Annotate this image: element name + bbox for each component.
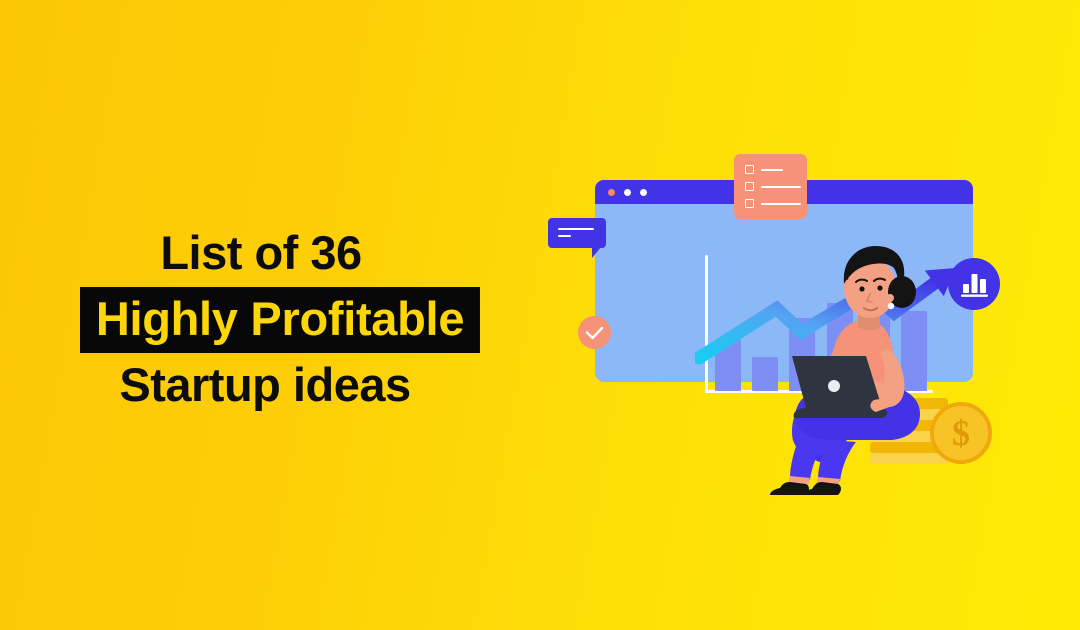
checklist-line	[761, 186, 801, 188]
headline-line-3: Startup ideas	[0, 354, 560, 416]
check-circle-badge	[578, 316, 611, 349]
headline-block: List of 36 Highly Profitable Startup ide…	[0, 222, 560, 416]
woman-with-laptop	[770, 236, 960, 496]
speech-bubble-line	[558, 228, 594, 230]
traffic-light-dot-red-icon	[608, 189, 615, 196]
headline-line-1: List of 36	[0, 222, 560, 284]
traffic-light-dot-white-1-icon	[624, 189, 631, 196]
checklist-line	[761, 169, 783, 171]
headline-highlight-wrap: Highly Profitable	[0, 287, 560, 353]
speech-bubble	[548, 218, 606, 248]
traffic-light-dot-white-2-icon	[640, 189, 647, 196]
checkbox-icon	[745, 199, 754, 208]
checklist-line	[761, 203, 801, 205]
headline-highlight: Highly Profitable	[80, 287, 480, 353]
speech-bubble-line	[558, 235, 571, 237]
promo-banner: List of 36 Highly Profitable Startup ide…	[0, 0, 1080, 630]
checkbox-icon	[745, 165, 754, 174]
business-growth-illustration: $	[540, 140, 1040, 500]
checkbox-icon	[745, 182, 754, 191]
speech-bubble-tail	[592, 247, 601, 258]
check-icon	[578, 316, 611, 349]
checklist-card	[734, 154, 807, 219]
